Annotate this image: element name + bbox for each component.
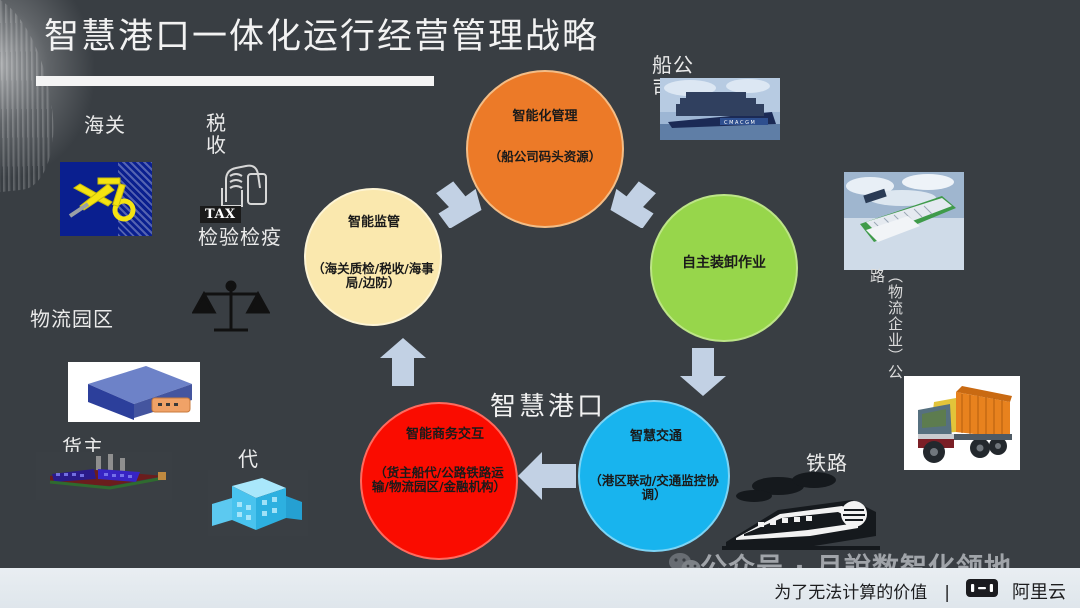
agent-building-image: [208, 470, 308, 536]
railway-train-image: [718, 470, 884, 552]
center-label: 智慧港口: [490, 386, 606, 423]
arrow-green-to-blue: [676, 346, 730, 398]
node-subtitle: （船公司码头资源）: [468, 150, 622, 164]
cargo-owner-factory-image: [36, 452, 172, 500]
scales-of-justice-icon: [192, 278, 270, 338]
svg-text:C M A C G M: C M A C G M: [724, 120, 755, 126]
tax-stamp-badge: TAX: [200, 206, 241, 223]
cycle-node-intelligent-supervision[interactable]: 智能监管 （海关质检/税收/海事局/边防）: [306, 190, 440, 324]
node-title: 智慧交通: [608, 430, 728, 445]
node-title: 自主装卸作业: [652, 256, 796, 272]
cycle-node-smart-transport[interactable]: 智慧交通 （港区联动/交通监控协调）: [580, 402, 728, 550]
logistics-park-image: [68, 362, 200, 422]
container-truck-image: [904, 376, 1020, 470]
label-logistics-park: 物流园区: [30, 308, 126, 331]
footer-bar: 为了无法计算的价值 | 阿里云: [0, 568, 1080, 608]
page-title: 智慧港口一体化运行经营管理战略: [44, 8, 599, 59]
cycle-node-autonomous-loading[interactable]: 自主装卸作业: [652, 196, 796, 340]
node-subtitle: （海关质检/税收/海事局/边防）: [306, 262, 440, 290]
cycle-node-smart-business[interactable]: 智能商务交互 （货主船代/公路铁路运输/物流园区/金融机构）: [362, 404, 516, 558]
arrow-red-to-yellow: [376, 336, 430, 388]
label-inspection-quarantine: 检验检疫: [198, 226, 290, 249]
node-title: 智能化管理: [468, 110, 622, 125]
footer-slogan: 为了无法计算的价值 |: [774, 578, 950, 603]
node-title: 智能商务交互: [386, 428, 516, 443]
arrow-blue-to-red: [516, 450, 578, 502]
label-customs: 海关: [84, 114, 142, 137]
node-title: 智能监管: [322, 216, 440, 231]
label-logistics-enterprise: （物流企业）公路: [868, 268, 904, 380]
aliyun-logo-icon: [966, 579, 998, 597]
node-subtitle: （货主船代/公路铁路运输/物流园区/金融机构）: [362, 466, 516, 494]
slide-canvas: 智慧港口一体化运行经营管理战略 智能化管理 （船公司码头资源） 智能监管 （海关…: [0, 0, 1080, 608]
container-ship-image: C M A C G M: [660, 78, 780, 140]
cycle-node-intelligent-management[interactable]: 智能化管理 （船公司码头资源）: [468, 72, 622, 226]
customs-emblem-icon: [60, 162, 152, 236]
node-subtitle: （港区联动/交通监控协调）: [580, 474, 728, 502]
footer-brand: 阿里云: [1012, 578, 1066, 604]
logistics-warehouse-image: [844, 172, 964, 270]
title-underline: [36, 76, 434, 86]
